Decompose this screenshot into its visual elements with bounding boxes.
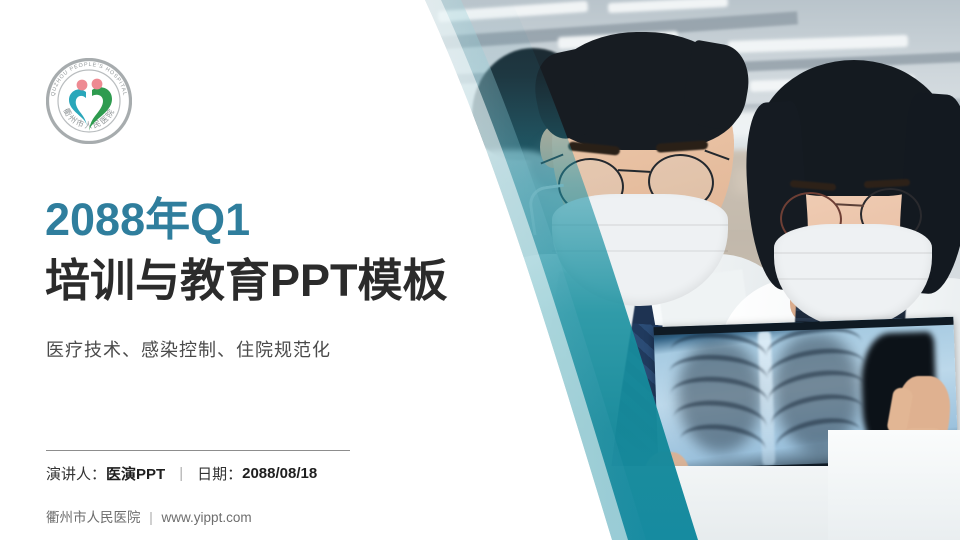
meta-separator: |: [179, 465, 183, 482]
hospital-logo: QUZHOU PEOPLE'S HOSPITAL 衢州市人民医院: [46, 58, 132, 144]
date-label: 日期：: [197, 463, 242, 484]
page-title-year: 2088年Q1: [45, 197, 250, 242]
footer-website[interactable]: www.yippt.com: [162, 510, 252, 525]
speaker-value: 医演PPT: [106, 463, 165, 484]
footer-divider: |: [149, 510, 153, 525]
date-value: 2088/08/18: [242, 465, 317, 482]
presentation-title-slide: QUZHOU PEOPLE'S HOSPITAL 衢州市人民医院 2088年Q1…: [0, 0, 960, 540]
presenter-meta-row: 演讲人： 医演PPT | 日期： 2088/08/18: [46, 463, 317, 484]
page-title-main: 培训与教育PPT模板: [45, 258, 448, 303]
page-subtitle: 医疗技术、感染控制、住院规范化: [46, 336, 331, 362]
footer-organization: 衢州市人民医院: [46, 510, 141, 525]
meta-divider: [46, 450, 350, 451]
speaker-label: 演讲人：: [46, 463, 106, 484]
footer-row: 衢州市人民医院 | www.yippt.com: [46, 506, 252, 526]
doctors-photo: [398, 0, 960, 540]
slide-content: QUZHOU PEOPLE'S HOSPITAL 衢州市人民医院 2088年Q1…: [0, 0, 430, 540]
